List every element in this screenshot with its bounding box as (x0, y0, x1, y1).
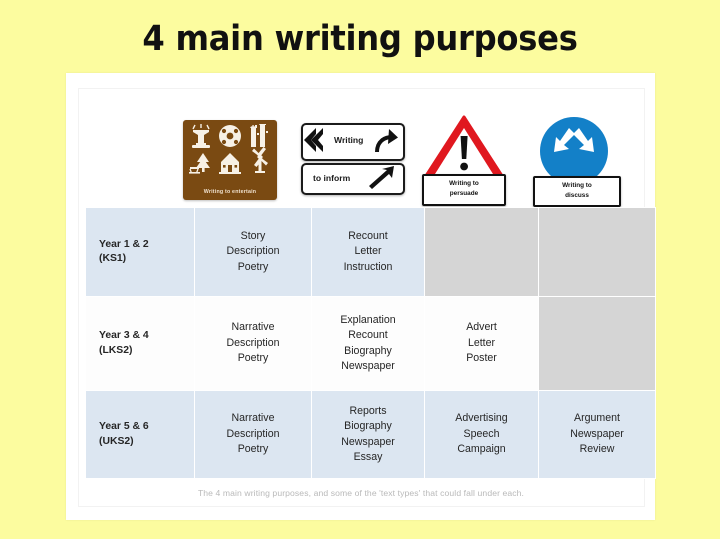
cell-ks1-discuss-blank (539, 208, 656, 297)
cell-item: Newspaper (570, 428, 624, 440)
diagonal-up-right-arrow-icon (369, 166, 394, 189)
fountain-icon (192, 124, 210, 148)
icon-cell-inform[interactable]: Writing to inform (296, 112, 408, 207)
cell-item: Advert (466, 321, 497, 333)
cell-item: Poetry (238, 352, 269, 364)
entertain-pictogram-grid (187, 124, 273, 182)
cell-item: Description (227, 337, 280, 349)
icon-cell-entertain[interactable]: Writing to entertain (180, 112, 296, 207)
cell-item: Campaign (457, 443, 505, 455)
writing-to-entertain-sign[interactable]: Writing to entertain (183, 120, 277, 200)
writing-plate[interactable]: Writing (301, 123, 405, 161)
row-label-ks1: Year 1 & 2 (KS1) (86, 208, 195, 297)
discuss-label-plate[interactable]: Writing todiscuss (533, 176, 621, 207)
writing-to-persuade-sign[interactable] (422, 115, 506, 181)
cell-lks2-discuss-blank (539, 297, 656, 391)
row-label-year: Year 1 & 2 (99, 239, 149, 250)
curved-arrow-head-icon (388, 129, 398, 144)
discuss-label-text: Writing todiscuss (535, 181, 619, 200)
cell-item: Narrative (232, 412, 275, 424)
purpose-icon-row: Writing to entertain Writing (85, 112, 637, 207)
stately-home-icon (219, 153, 241, 174)
cell-item: Story (241, 230, 266, 242)
table-caption: The 4 main writing purposes, and some of… (85, 488, 637, 498)
row-label-keystage: (KS1) (99, 253, 126, 264)
row-label-lks2: Year 3 & 4 (LKS2) (86, 297, 195, 391)
to-inform-plate[interactable]: to inform (301, 163, 405, 195)
cell-uks2-inform: Reports Biography Newspaper Essay (312, 391, 425, 479)
left-chevron-icon (304, 128, 323, 152)
cell-item: Speech (464, 428, 500, 440)
row-label-keystage: (LKS2) (99, 345, 132, 356)
row-label-keystage: (UKS2) (99, 436, 134, 447)
cell-item: Poster (466, 352, 497, 364)
cell-item: Poetry (238, 261, 269, 273)
cell-item: Explanation (340, 314, 395, 326)
cell-item: Description (227, 428, 280, 440)
cell-item: Biography (344, 345, 392, 357)
football-icon (219, 125, 241, 147)
cell-item: Argument (574, 412, 620, 424)
cell-item: Letter (468, 337, 495, 349)
entertain-sign-label: Writing to entertain (183, 189, 277, 195)
cell-lks2-entertain: Narrative Description Poetry (195, 297, 312, 391)
castle-towers-icon (250, 124, 268, 147)
warning-triangle-icon (422, 115, 506, 181)
row-label-uks2: Year 5 & 6 (UKS2) (86, 391, 195, 479)
icon-cell-persuade[interactable]: Writing topersuade (408, 112, 521, 207)
page-title: 4 main writing purposes (29, 19, 691, 59)
cell-item: Essay (354, 451, 383, 463)
writing-plate-text: Writing (334, 135, 363, 145)
cell-ks1-entertain: Story Description Poetry (195, 208, 312, 297)
cell-item: Description (227, 245, 280, 257)
cell-ks1-persuade-blank (425, 208, 539, 297)
row-label-year: Year 3 & 4 (99, 330, 149, 341)
cell-lks2-inform: Explanation Recount Biography Newspaper (312, 297, 425, 391)
to-inform-plate-text: to inform (313, 173, 350, 183)
row-label-year: Year 5 & 6 (99, 421, 149, 432)
table-row-uks2: Year 5 & 6 (UKS2) Narrative Description … (86, 391, 656, 479)
persuade-label-text: Writing topersuade (424, 179, 504, 198)
slide: 4 main writing purposes (0, 0, 720, 539)
cell-uks2-discuss: Argument Newspaper Review (539, 391, 656, 479)
cell-item: Reports (349, 405, 386, 417)
persuade-label-plate[interactable]: Writing topersuade (422, 174, 506, 206)
windmill-icon (252, 147, 268, 173)
cell-item: Review (580, 443, 615, 455)
table-row-lks2: Year 3 & 4 (LKS2) Narrative Description … (86, 297, 656, 391)
cell-uks2-entertain: Narrative Description Poetry (195, 391, 312, 479)
writing-purposes-table: Year 1 & 2 (KS1) Story Description Poetr… (85, 207, 656, 479)
picnic-park-icon (189, 153, 210, 174)
cell-item: Poetry (238, 443, 269, 455)
cell-item: Newspaper (341, 360, 395, 372)
cell-item: Letter (354, 245, 381, 257)
cell-item: Instruction (344, 261, 393, 273)
cell-ks1-inform: Recount Letter Instruction (312, 208, 425, 297)
table-row-ks1: Year 1 & 2 (KS1) Story Description Poetr… (86, 208, 656, 297)
cell-lks2-persuade: Advert Letter Poster (425, 297, 539, 391)
cell-item: Recount (348, 230, 387, 242)
cell-item: Advertising (455, 412, 507, 424)
cell-uks2-persuade: Advertising Speech Campaign (425, 391, 539, 479)
cell-item: Narrative (232, 321, 275, 333)
icon-cell-discuss[interactable]: Writing todiscuss (521, 112, 637, 207)
cell-item: Recount (348, 329, 387, 341)
cell-item: Biography (344, 420, 392, 432)
cell-item: Newspaper (341, 436, 395, 448)
